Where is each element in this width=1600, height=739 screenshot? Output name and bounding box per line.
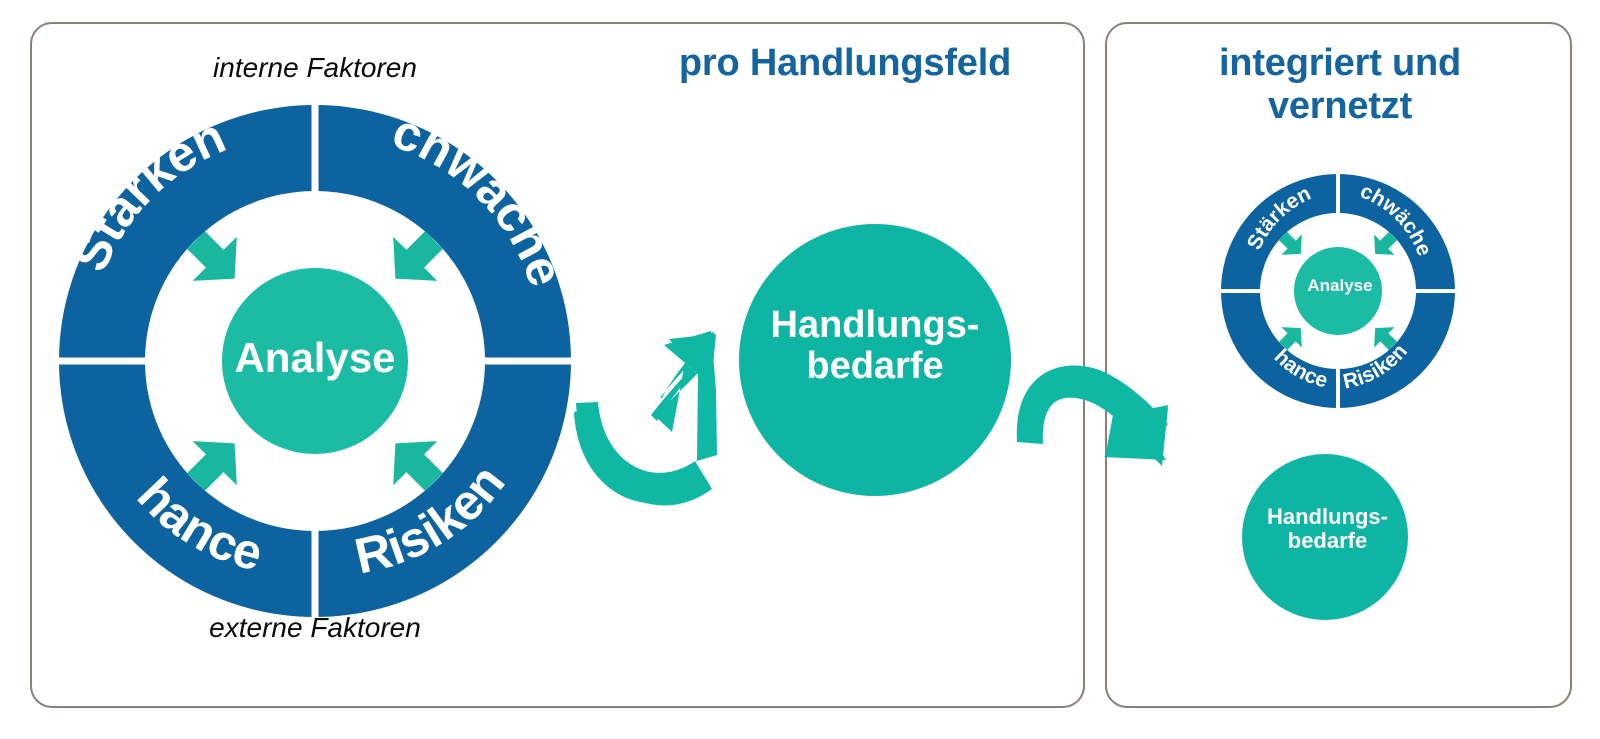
diagram-canvas: Stärken Schwächen Chancen Risiken	[0, 0, 1600, 739]
panel-pro-handlungsfeld	[30, 22, 1085, 708]
label-externe-faktoren: externe Faktoren	[155, 612, 475, 644]
panel-title-integriert-vernetzt: integriert und vernetzt	[1140, 42, 1540, 127]
panel-title-pro-handlungsfeld: pro Handlungsfeld	[600, 42, 1090, 85]
label-interne-faktoren: interne Faktoren	[155, 52, 475, 84]
